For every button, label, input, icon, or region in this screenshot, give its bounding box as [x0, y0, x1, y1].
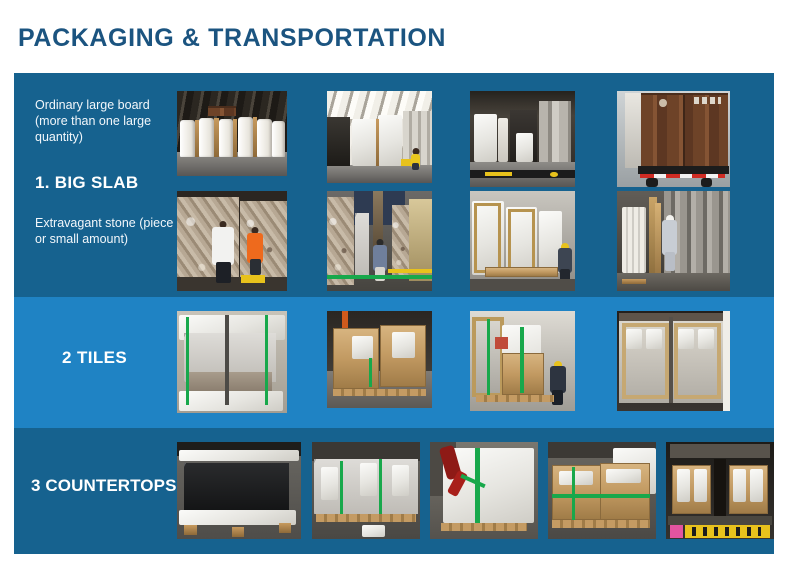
packaging-panel: Ordinary large board (more than one larg…: [14, 73, 774, 554]
photo-worker-moving-slab-aisle: [327, 191, 432, 291]
photo-tile-crates-pallets: [327, 311, 432, 408]
tiles-label-column: 2 TILES: [14, 297, 177, 428]
countertops-label-column: 3 COUNTERTOPS: [14, 428, 177, 554]
big-slab-extravagant-caption: Extravagant stone (piece or small amount…: [35, 215, 175, 247]
photo-slab-bundles-warehouse: [177, 91, 287, 176]
photo-countertop-crates-banded: [548, 442, 656, 539]
photo-slabs-loading-trailer: [327, 91, 432, 183]
photo-slabs-inside-container: [470, 91, 575, 187]
section-countertops: 3 COUNTERTOPS: [14, 428, 774, 554]
photo-marble-countertops-pallet: [312, 442, 420, 539]
big-slab-label-column: Ordinary large board (more than one larg…: [14, 73, 177, 297]
tiles-photo-row: [177, 311, 730, 413]
photo-tile-pallets-worker-helmet: [470, 311, 575, 411]
section-big-slab: Ordinary large board (more than one larg…: [14, 73, 774, 297]
photo-wrapped-countertop-bundle-straps: [430, 442, 538, 539]
big-slab-photo-row-1: [177, 91, 730, 187]
photo-countertops-loaded-container: [666, 442, 774, 539]
big-slab-ordinary-caption: Ordinary large board (more than one larg…: [35, 97, 175, 145]
page-title: PACKAGING & TRANSPORTATION: [18, 24, 446, 53]
photo-crated-stone-bundles-worker: [470, 191, 575, 291]
photo-black-countertop-aframe: [177, 442, 301, 539]
section-tiles: 2 TILES: [14, 297, 774, 428]
section-heading-big-slab: 1. BIG SLAB: [35, 173, 138, 193]
big-slab-photo-row-2: [177, 191, 730, 291]
photo-worker-bracing-crate-container: [617, 191, 730, 291]
section-heading-tiles: 2 TILES: [62, 348, 127, 368]
photo-workers-granite-slab: [177, 191, 287, 291]
photo-container-rear-on-truck: [617, 91, 730, 187]
section-heading-countertops: 3 COUNTERTOPS: [31, 476, 177, 496]
photo-tile-bundle-green-straps: [177, 311, 287, 413]
countertops-photo-row: [177, 442, 774, 539]
photo-tile-crates-in-container: [617, 311, 730, 411]
